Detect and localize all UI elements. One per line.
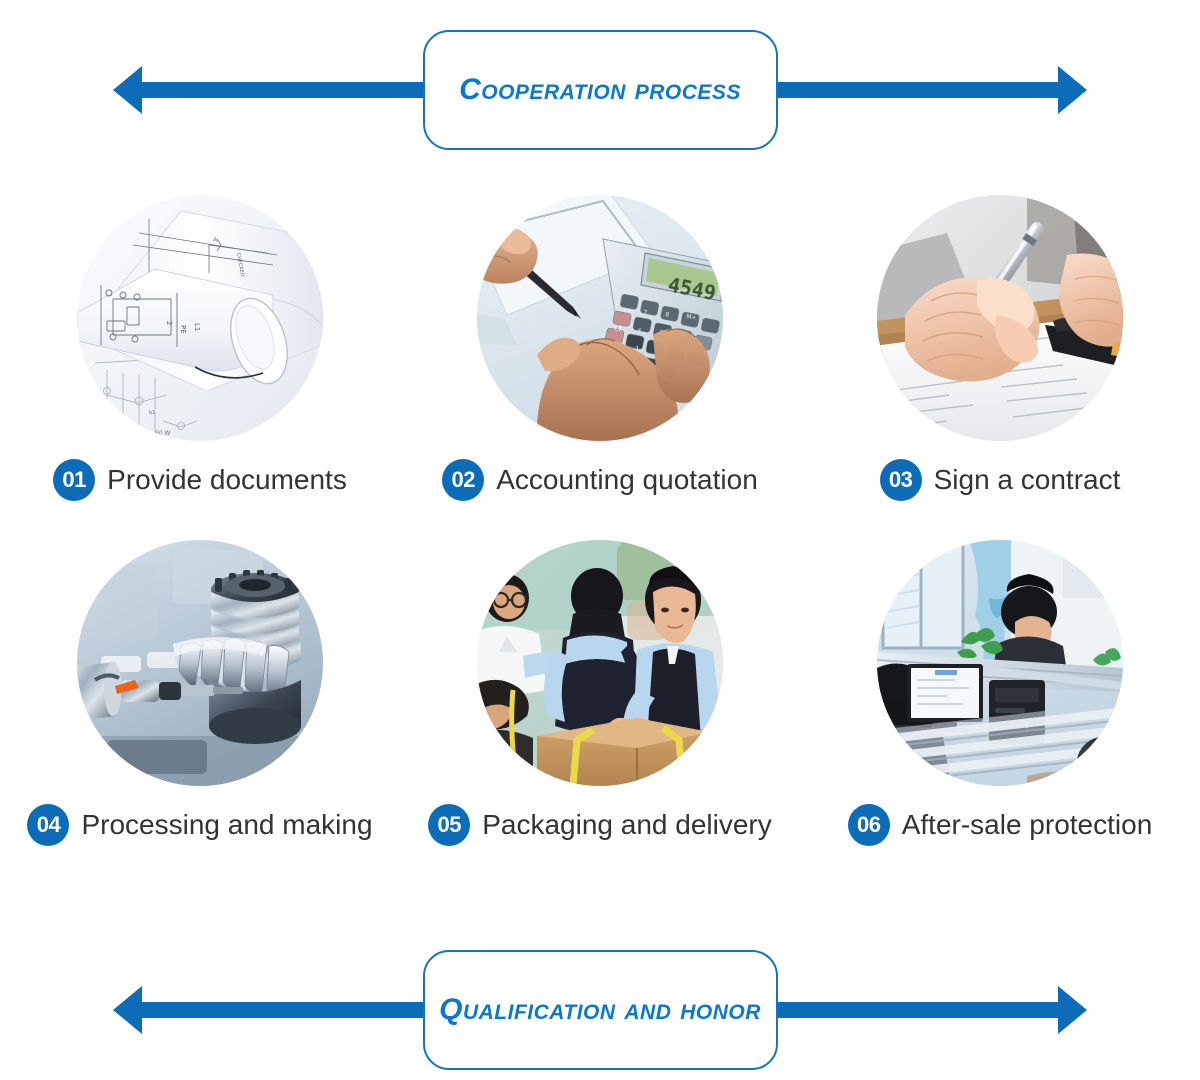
step-number-badge: 03 xyxy=(880,459,922,501)
arrow-right-shaft xyxy=(770,1002,1060,1018)
step-number-badge: 05 xyxy=(428,804,470,846)
hand-signing-contract-photo xyxy=(877,195,1123,441)
step-label-05: 05 Packaging and delivery xyxy=(428,804,772,846)
step-title: After-sale protection xyxy=(902,809,1153,841)
step-number-badge: 06 xyxy=(848,804,890,846)
step-title: Processing and making xyxy=(81,809,372,841)
step-number-badge: 01 xyxy=(53,459,95,501)
step-title: Provide documents xyxy=(107,464,347,496)
step-label-01: 01 Provide documents xyxy=(53,459,347,501)
arrow-left-shaft xyxy=(140,82,430,98)
process-steps-row-2: 04 Processing and making xyxy=(0,540,1200,885)
arrow-left-icon xyxy=(113,986,142,1034)
arrow-right-shaft xyxy=(770,82,1060,98)
svg-text:60 W: 60 W xyxy=(155,430,171,437)
banner-box-top: Cooperation process xyxy=(423,30,778,150)
step-number-badge: 04 xyxy=(27,804,69,846)
svg-text:2: 2 xyxy=(165,321,173,325)
step-label-06: 06 After-sale protection xyxy=(848,804,1153,846)
process-step-03[interactable]: 03 Sign a contract xyxy=(800,195,1200,540)
step-number-badge: 02 xyxy=(442,459,484,501)
cnc-machining-photo xyxy=(77,540,323,786)
arrow-right-icon xyxy=(1058,986,1087,1034)
arrow-left-icon xyxy=(113,66,142,114)
process-step-02[interactable]: 4549 xyxy=(400,195,800,540)
process-step-06[interactable]: 06 After-sale protection xyxy=(800,540,1200,885)
qualification-and-honor-banner: Qualification and honor xyxy=(0,940,1200,1080)
banner-title-bottom: Qualification and honor xyxy=(439,993,761,1027)
svg-text:PE: PE xyxy=(179,325,187,334)
workers-packing-boxes-photo xyxy=(477,540,723,786)
step-label-03: 03 Sign a contract xyxy=(880,459,1121,501)
process-step-05[interactable]: 05 Packaging and delivery xyxy=(400,540,800,885)
arrow-left-shaft xyxy=(140,1002,430,1018)
process-steps-row-1: 60 W b1 A CHECKED xyxy=(0,195,1200,540)
banner-box-bottom: Qualification and honor xyxy=(423,950,778,1070)
process-steps: 60 W b1 A CHECKED xyxy=(0,195,1200,895)
cooperation-process-banner: Cooperation process xyxy=(0,20,1200,160)
step-title: Sign a contract xyxy=(934,464,1121,496)
banner-title-top: Cooperation process xyxy=(459,73,741,107)
svg-text:L1: L1 xyxy=(193,323,201,331)
process-step-04[interactable]: 04 Processing and making xyxy=(0,540,400,885)
hands-calculator-photo: 4549 xyxy=(477,195,723,441)
rolled-blueprints-photo: 60 W b1 A CHECKED xyxy=(77,195,323,441)
step-title: Packaging and delivery xyxy=(482,809,772,841)
office-workers-computers-photo xyxy=(877,540,1123,786)
step-label-04: 04 Processing and making xyxy=(27,804,372,846)
arrow-right-icon xyxy=(1058,66,1087,114)
svg-text:b1: b1 xyxy=(149,410,155,416)
step-title: Accounting quotation xyxy=(496,464,758,496)
process-step-01[interactable]: 60 W b1 A CHECKED xyxy=(0,195,400,540)
step-label-02: 02 Accounting quotation xyxy=(442,459,758,501)
